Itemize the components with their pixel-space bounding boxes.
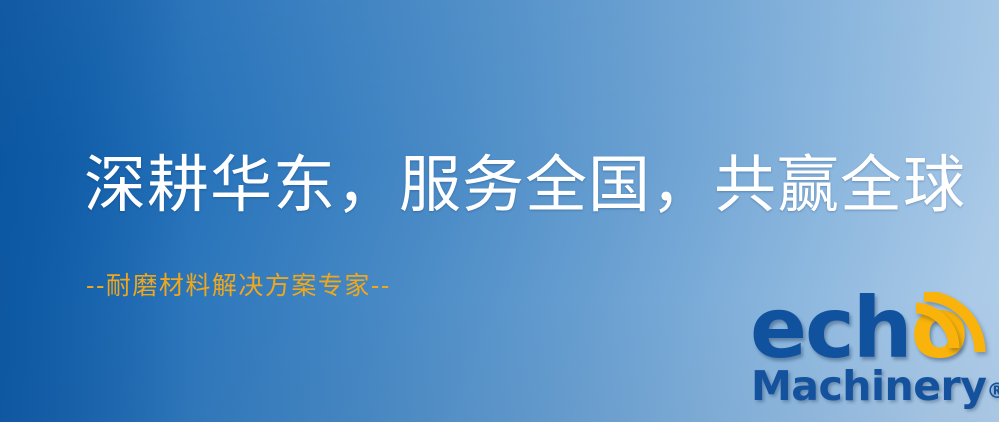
echo-waves-icon [916, 292, 999, 364]
promotional-banner: 深耕华东，服务全国，共赢全球 --耐磨材料解决方案专家-- echo Machi… [0, 0, 999, 422]
logo-tagline: Machinery® [751, 366, 999, 407]
company-logo[interactable]: echo Machinery® [748, 296, 999, 422]
logo-tagline-text: Machinery [751, 362, 986, 410]
banner-headline: 深耕华东，服务全国，共赢全球 [84, 152, 966, 217]
banner-subtitle: --耐磨材料解决方案专家-- [86, 266, 391, 302]
registered-trademark-icon: ® [986, 379, 999, 403]
